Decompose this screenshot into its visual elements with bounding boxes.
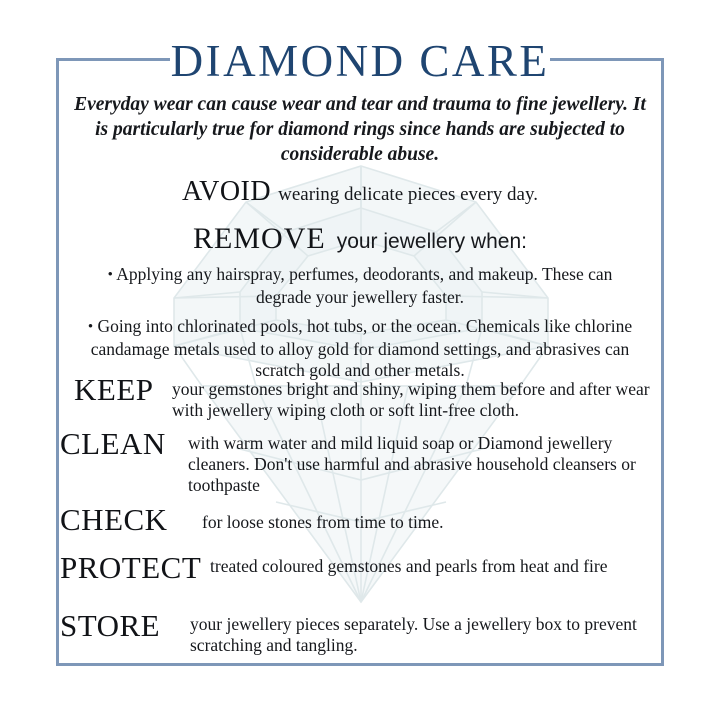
poster-content: DIAMOND CARE Everyday wear can cause wea… xyxy=(56,58,664,666)
section-keyword-protect: PROTECT xyxy=(56,552,204,583)
list-item: • Going into chlorinated pools, hot tubs… xyxy=(74,316,646,382)
bullet-marker: • xyxy=(108,267,113,283)
section-body-keep: your gemstones bright and shiny, wiping … xyxy=(168,374,664,421)
intro-paragraph: Everyday wear can cause wear and tear an… xyxy=(70,92,650,167)
list-item: • Applying any hairspray, perfumes, deod… xyxy=(74,264,646,308)
page-title: DIAMOND CARE xyxy=(56,36,664,86)
remove-bullet-list: • Applying any hairspray, perfumes, deod… xyxy=(74,264,646,390)
section-keyword-check: CHECK xyxy=(56,504,194,535)
remove-body: your jewellery when: xyxy=(337,230,527,253)
section-check: CHECK for loose stones from time to time… xyxy=(56,504,664,535)
section-body-clean: with warm water and mild liquid soap or … xyxy=(184,428,664,496)
avoid-keyword: AVOID xyxy=(182,176,271,207)
section-body-check: for loose stones from time to time. xyxy=(194,504,664,533)
diamond-care-poster: DIAMOND CARE Everyday wear can cause wea… xyxy=(0,0,720,720)
section-keyword-store: STORE xyxy=(56,610,184,641)
bullet-text: Going into chlorinated pools, hot tubs, … xyxy=(91,316,632,380)
section-protect: PROTECT treated coloured gemstones and p… xyxy=(56,552,664,583)
section-keyword-clean: CLEAN xyxy=(56,428,184,459)
bullet-text: Applying any hairspray, perfumes, deodor… xyxy=(116,264,612,307)
avoid-row: AVOIDwearing delicate pieces every day. xyxy=(56,176,664,208)
remove-keyword: REMOVE xyxy=(193,222,326,255)
bullet-marker: • xyxy=(88,319,93,335)
section-body-protect: treated coloured gemstones and pearls fr… xyxy=(204,552,664,577)
section-store: STORE your jewellery pieces separately. … xyxy=(56,610,664,656)
avoid-body: wearing delicate pieces every day. xyxy=(278,184,538,205)
section-body-store: your jewellery pieces separately. Use a … xyxy=(184,610,664,656)
remove-row: REMOVEyour jewellery when: xyxy=(56,222,664,256)
section-keep: KEEP your gemstones bright and shiny, wi… xyxy=(56,374,664,421)
section-keyword-keep: KEEP xyxy=(56,374,168,405)
section-clean: CLEAN with warm water and mild liquid so… xyxy=(56,428,664,496)
